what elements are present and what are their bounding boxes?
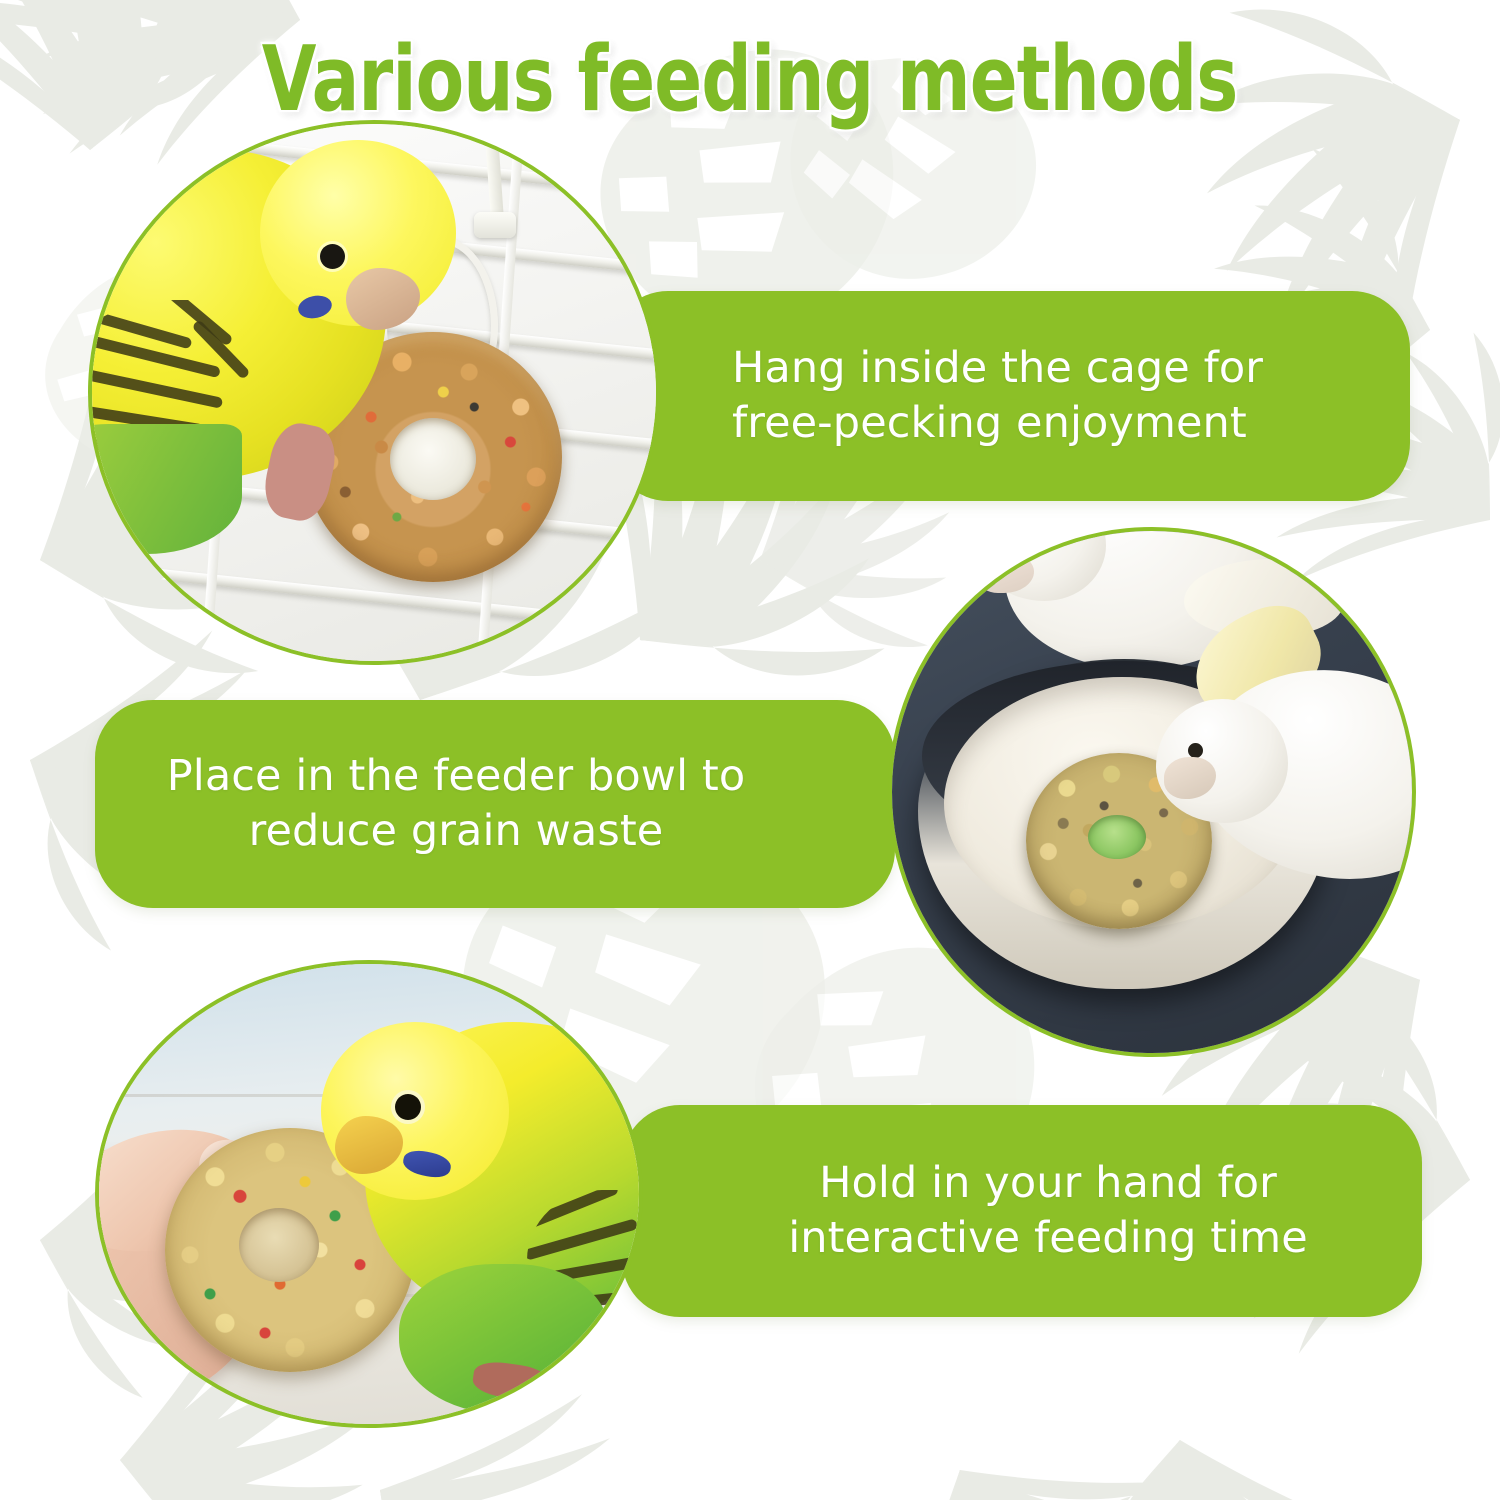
seed-ring-hole xyxy=(1088,815,1146,859)
method-banner-2: Place in the feeder bowl to reduce grain… xyxy=(95,700,895,908)
scene-bowl xyxy=(892,531,1412,1053)
photo-feeder-bowl xyxy=(888,527,1416,1057)
page-title-text: Various feeding methods xyxy=(262,26,1238,131)
cockatiel-eye xyxy=(1188,743,1203,758)
method-banner-3: Hold in your hand for interactive feedin… xyxy=(622,1105,1422,1317)
budgie-eye xyxy=(320,244,345,269)
photo-hand-feeding xyxy=(95,960,643,1428)
method-banner-2-text: Place in the feeder bowl to reduce grain… xyxy=(95,749,895,859)
method-banner-3-text: Hold in your hand for interactive feedin… xyxy=(622,1156,1422,1266)
page-title: Various feeding methods xyxy=(0,26,1500,115)
zip-tie-head xyxy=(474,212,516,238)
budgie-eye xyxy=(395,1094,421,1120)
method-banner-1: Hang inside the cage for free-pecking en… xyxy=(610,291,1410,501)
seed-ring-hole xyxy=(239,1208,319,1282)
method-banner-1-text: Hang inside the cage for free-pecking en… xyxy=(732,341,1263,451)
photo-hang-in-cage xyxy=(88,120,660,665)
seed-ring-hole xyxy=(390,418,476,500)
scene-hand xyxy=(99,964,639,1424)
scene-cage xyxy=(92,124,656,661)
